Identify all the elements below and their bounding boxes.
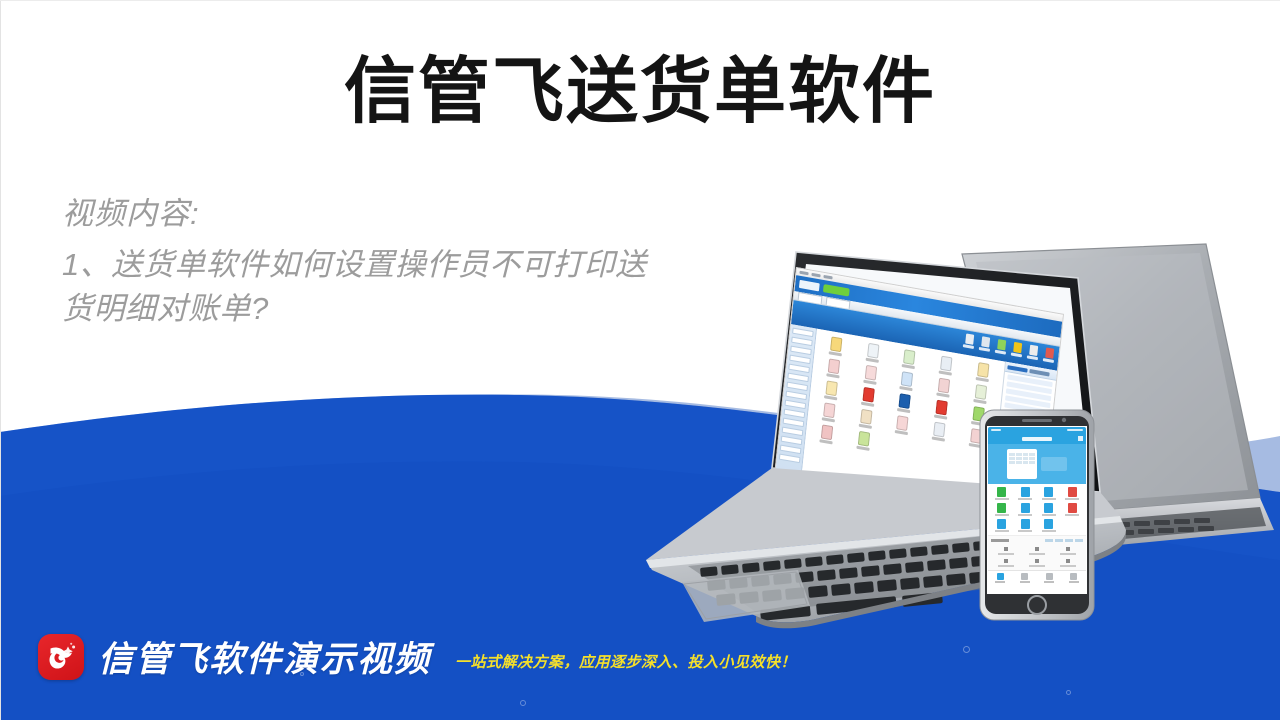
sidebar-item[interactable] [788, 364, 810, 374]
phone-nav-label [1044, 581, 1054, 583]
phone-banner-cell [1016, 457, 1022, 460]
phone-feature-label [1018, 498, 1032, 500]
app-grid-item[interactable] [926, 376, 963, 400]
footer-inner: 信管飞软件演示视频 一站式解决方案，应用逐步深入、投入小见效快！ [38, 631, 796, 682]
app-grid-icon [864, 365, 876, 381]
phone-feature-item[interactable] [1014, 487, 1038, 500]
page-title: 信管飞送货单软件 [0, 55, 1280, 131]
phone-nav-label [1069, 581, 1079, 583]
phone-feature-icon [997, 519, 1006, 529]
app-grid-item[interactable] [854, 341, 891, 365]
sidebar-item[interactable] [785, 400, 807, 410]
content-item-line-1: 1、送货单软件如何设置操作员不可打印送 [62, 243, 752, 287]
phone-feature-icon [1068, 487, 1077, 497]
app-grid-icon [933, 422, 945, 438]
phone-stat-cell [1022, 547, 1053, 555]
phone-status-indicators [1067, 429, 1083, 431]
phone-feature-label [1065, 514, 1079, 516]
app-grid-item[interactable] [923, 398, 960, 422]
app-menu-item[interactable] [811, 273, 820, 278]
phone-nav-reports[interactable] [1037, 571, 1062, 584]
app-grid-icon [821, 424, 833, 440]
toolbar-button[interactable] [978, 336, 991, 356]
app-grid-icon [857, 431, 869, 447]
app-banner-button[interactable] [823, 284, 850, 297]
toolbar-label [1043, 358, 1054, 363]
phone-banner-cell [1029, 453, 1035, 456]
content-block: 视频内容: 1、送货单软件如何设置操作员不可打印送 货明细对账单? [62, 192, 752, 331]
content-item-line-2: 货明细对账单? [62, 287, 752, 331]
phone-feature-icon [1044, 487, 1053, 497]
phone-banner-cell [1023, 453, 1029, 456]
app-grid-icon [972, 406, 984, 422]
app-grid-label [900, 386, 913, 391]
phone-banner-cell [1009, 461, 1015, 464]
app-grid-label [902, 364, 915, 369]
app-grid-icon [862, 387, 874, 403]
phone-banner-cell [1029, 457, 1035, 460]
phone-stat-cell [1052, 559, 1083, 567]
phone-feature-icon [1021, 519, 1030, 529]
phone-stat-value [1035, 547, 1039, 551]
app-grid-icon [867, 343, 879, 359]
app-grid-icon [938, 378, 950, 394]
phone-banner-cell [1009, 457, 1015, 460]
toolbar-label [963, 344, 974, 349]
phone-stats-title [991, 539, 1009, 542]
phone-stats-tab[interactable] [1065, 539, 1073, 542]
app-grid-icon [977, 362, 989, 378]
app-grid-icon [830, 336, 842, 352]
phone-feature-item[interactable] [1061, 487, 1085, 500]
app-grid-item[interactable] [891, 347, 928, 371]
sidebar-item[interactable] [787, 373, 809, 383]
brand-logo-svg [38, 634, 84, 680]
phone-stats-tab[interactable] [1045, 539, 1053, 542]
phone-feature-item[interactable] [1037, 503, 1061, 516]
phone-feature-label [995, 530, 1009, 532]
app-grid-item[interactable] [815, 356, 852, 380]
phone-banner-cell [1016, 453, 1022, 456]
phone-stat-value [1004, 559, 1008, 563]
app-menu-item[interactable] [823, 275, 832, 280]
phone-stat-label [998, 565, 1014, 567]
phone-stats-section [988, 536, 1086, 570]
app-grid-item[interactable] [847, 407, 884, 431]
phone-nav-label [1020, 581, 1030, 583]
phone-app-header [988, 433, 1086, 444]
phone-feature-label [995, 514, 1009, 516]
phone-feature-icon [1044, 503, 1053, 513]
phone-stat-value [1035, 559, 1039, 563]
app-grid-label [932, 436, 945, 441]
toolbar-icon [1045, 347, 1054, 358]
phone-stat-value [1066, 547, 1070, 551]
phone-stat-label [998, 553, 1014, 555]
toolbar-icon [981, 336, 990, 347]
toolbar-label [979, 347, 990, 352]
phone-nav-label [995, 581, 1005, 583]
sidebar-item[interactable] [782, 427, 804, 437]
sidebar-item[interactable] [789, 355, 811, 365]
phone-feature-grid [988, 484, 1086, 536]
sidebar-item[interactable] [781, 436, 803, 446]
phone-feature-item[interactable] [990, 487, 1014, 500]
phone-feature-label [1018, 514, 1032, 516]
phone-feature-item[interactable] [990, 503, 1014, 516]
app-grid-item[interactable] [852, 363, 889, 387]
sidebar-item[interactable] [780, 445, 802, 455]
app-grid-icon [970, 428, 982, 444]
brand-name-label: 信管飞软件演示视频 [98, 631, 431, 682]
phone-feature-icon [1068, 503, 1077, 513]
sidebar-item[interactable] [792, 328, 814, 338]
phone-bottom-nav [988, 570, 1086, 584]
phone-menu-icon[interactable] [1078, 436, 1083, 441]
app-grid-item[interactable] [808, 422, 845, 446]
phone-stats-grid [991, 547, 1083, 567]
toolbar-icon [1013, 342, 1022, 353]
phone-stat-value [1066, 559, 1070, 563]
app-grid-icon [897, 415, 909, 431]
sidebar-item[interactable] [790, 346, 812, 356]
phone-stat-label [1060, 565, 1076, 567]
phone-feature-icon [1021, 503, 1030, 513]
phone-nav-home[interactable] [988, 571, 1013, 584]
app-grid-item[interactable] [850, 385, 887, 409]
toolbar-button[interactable] [1026, 344, 1039, 364]
app-grid-item[interactable] [887, 391, 924, 415]
phone-banner [988, 444, 1086, 484]
phone-feature-icon [1021, 487, 1030, 497]
grid-icon [1021, 573, 1028, 580]
phone-stat-cell [1052, 547, 1083, 555]
phone-banner-cell [1016, 461, 1022, 464]
phone-feature-label [995, 498, 1009, 500]
brand-bird-logo-icon [38, 634, 84, 680]
app-grid-item[interactable] [884, 413, 921, 437]
phone-banner-cell [1023, 457, 1029, 460]
app-grid-icon [975, 384, 987, 400]
toolbar-button[interactable] [1010, 342, 1023, 362]
user-icon [1070, 573, 1077, 580]
app-grid-label [937, 392, 950, 397]
phone-feature-label [1042, 514, 1056, 516]
app-grid-icon [904, 349, 916, 365]
phone-feature-item[interactable] [1014, 519, 1038, 532]
app-grid-item[interactable] [845, 429, 882, 453]
app-grid-icon [860, 409, 872, 425]
phone-stat-label [1029, 565, 1045, 567]
toolbar-button[interactable] [1042, 347, 1055, 367]
phone-banner-caption [1041, 457, 1067, 471]
app-grid-item[interactable] [818, 334, 855, 358]
app-grid-icon [825, 380, 837, 396]
slide-canvas: 信管飞送货单软件 视频内容: 1、送货单软件如何设置操作员不可打印送 货明细对账… [0, 0, 1280, 720]
app-grid-item[interactable] [960, 404, 997, 428]
phone-feature-label [1042, 498, 1056, 500]
phone-app-title [1022, 437, 1052, 441]
home-icon [997, 573, 1004, 580]
phone-feature-icon [1044, 519, 1053, 529]
phone-stats-tab[interactable] [1055, 539, 1063, 542]
app-menu-item[interactable] [799, 271, 808, 276]
phone-banner-cell [1029, 461, 1035, 464]
app-grid-icon [901, 371, 913, 387]
phone-stats-tab[interactable] [1075, 539, 1083, 542]
phone-banner-card [1007, 449, 1037, 479]
phone-stat-label [1029, 553, 1045, 555]
app-grid-icon [936, 400, 948, 416]
app-grid-label [939, 370, 952, 375]
toolbar-button[interactable] [962, 333, 975, 353]
phone-feature-item[interactable] [1061, 503, 1085, 516]
phone-nav-apps[interactable] [1013, 571, 1038, 584]
app-grid-icon [899, 393, 911, 409]
phone-stat-cell [991, 547, 1022, 555]
sidebar-item[interactable] [786, 382, 808, 392]
app-grid-item[interactable] [965, 360, 1002, 384]
brand-tagline-label: 一站式解决方案，应用逐步深入、投入小见效快！ [455, 651, 796, 672]
app-grid-item[interactable] [811, 400, 848, 424]
toolbar-label [1011, 353, 1022, 358]
chart-icon [1046, 573, 1053, 580]
sidebar-item[interactable] [785, 391, 807, 401]
phone-feature-item[interactable] [1037, 519, 1061, 532]
content-lead-label: 视频内容: [62, 192, 752, 237]
app-grid-item[interactable] [813, 378, 850, 402]
phone-feature-label [1042, 530, 1056, 532]
phone-feature-item[interactable] [1037, 487, 1061, 500]
footer-brand-bar: 信管飞软件演示视频 一站式解决方案，应用逐步深入、投入小见效快！ [0, 610, 1280, 720]
phone-feature-label [1065, 498, 1079, 500]
phone-stats-header [991, 539, 1083, 543]
sidebar-item[interactable] [779, 454, 801, 464]
phone-stat-cell [1022, 559, 1053, 567]
phone-feature-icon [997, 487, 1006, 497]
phone-feature-item[interactable] [1014, 503, 1038, 516]
toolbar-icon [965, 333, 974, 344]
app-logo-icon [799, 280, 820, 292]
phone-screen-content [988, 427, 1086, 593]
app-grid-icon [828, 358, 840, 374]
sidebar-item[interactable] [784, 409, 806, 419]
phone-stat-cell [991, 559, 1022, 567]
toolbar-button[interactable] [994, 339, 1007, 359]
app-grid-item[interactable] [962, 382, 999, 406]
phone-feature-icon [997, 503, 1006, 513]
phone-banner-cell [1023, 461, 1029, 464]
app-grid-icon [940, 356, 952, 372]
toolbar-icon [1029, 345, 1038, 356]
toolbar-icon [997, 339, 1006, 350]
phone-status-time [991, 429, 1001, 431]
phone-banner-grid [1009, 453, 1035, 464]
phone-stat-label [1060, 553, 1076, 555]
app-grid-label [897, 408, 910, 413]
toolbar-label [995, 350, 1006, 355]
app-grid-item[interactable] [928, 354, 965, 378]
app-right-panel-tab[interactable] [1007, 365, 1027, 373]
phone-nav-profile[interactable] [1062, 571, 1087, 584]
sidebar-item[interactable] [783, 418, 805, 428]
phone-feature-item[interactable] [990, 519, 1014, 532]
app-right-panel-tab[interactable] [1029, 369, 1049, 377]
app-grid-icon [823, 402, 835, 418]
toolbar-label [1027, 355, 1038, 360]
app-grid-item[interactable] [921, 420, 958, 444]
phone-feature-label [1018, 530, 1032, 532]
app-grid-label [934, 414, 947, 419]
app-grid-label [895, 430, 908, 435]
phone-stat-value [1004, 547, 1008, 551]
app-grid-item[interactable] [889, 369, 926, 393]
phone-banner-cell [1009, 453, 1015, 456]
sidebar-item[interactable] [791, 337, 813, 347]
